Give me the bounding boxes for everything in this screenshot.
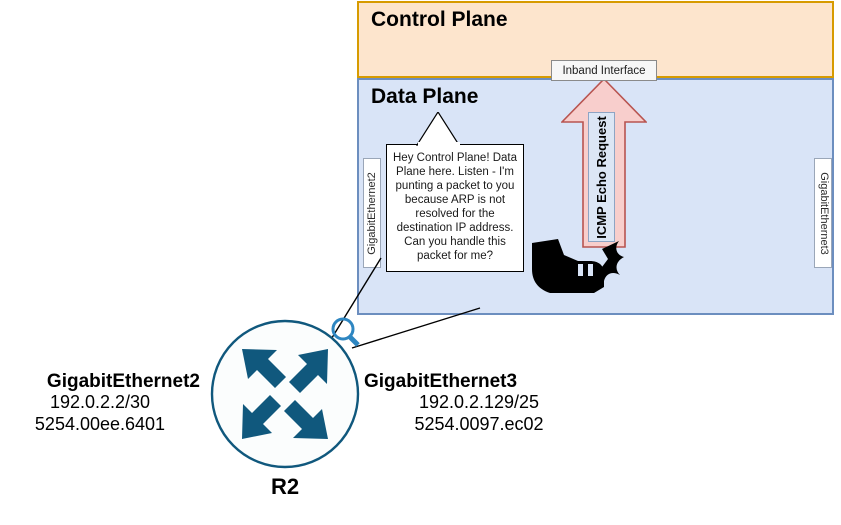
diagram-canvas: Control Plane Data Plane GigabitEthernet… bbox=[0, 0, 841, 525]
interface-label-gigabitethernet3: GigabitEthernet3 192.0.2.129/25 5254.009… bbox=[364, 371, 594, 435]
magnifying-glass-icon bbox=[329, 316, 365, 352]
router-name-label: R2 bbox=[210, 474, 360, 500]
icmp-echo-request-label: ICMP Echo Request bbox=[595, 116, 608, 239]
magnifier-lens bbox=[333, 319, 353, 339]
speech-tail-mask bbox=[418, 142, 460, 146]
interface-tab-gigabitethernet3: GigabitEthernet3 bbox=[814, 158, 832, 268]
ge2-address: 192.0.2.2/30 bbox=[0, 392, 200, 413]
speech-bubble: Hey Control Plane! Data Plane here. List… bbox=[386, 144, 524, 272]
speech-tail-shape bbox=[417, 112, 459, 145]
ge2-mac: 5254.00ee.6401 bbox=[0, 414, 200, 435]
impact-mark bbox=[602, 241, 624, 281]
ge3-name: GigabitEthernet3 bbox=[364, 371, 594, 392]
boot-tread-2 bbox=[588, 264, 593, 276]
icmp-echo-request-label-box: ICMP Echo Request bbox=[588, 112, 615, 242]
speech-bubble-tail bbox=[416, 112, 462, 146]
interface-label-gigabitethernet2: GigabitEthernet2 192.0.2.2/30 5254.00ee.… bbox=[0, 371, 200, 435]
interface-tab-gigabitethernet2: GigabitEthernet2 bbox=[363, 158, 381, 268]
ge3-address: 192.0.2.129/25 bbox=[364, 392, 594, 413]
speech-bubble-text: Hey Control Plane! Data Plane here. List… bbox=[387, 145, 523, 263]
magnifier-handle bbox=[350, 337, 358, 345]
interface-tab-ge2-label: GigabitEthernet2 bbox=[367, 172, 378, 255]
boot-shape bbox=[532, 239, 604, 293]
boot-tread-1 bbox=[578, 264, 583, 276]
control-plane-title: Control Plane bbox=[371, 8, 508, 32]
boot-kick-icon bbox=[524, 237, 636, 299]
ge3-mac: 5254.0097.ec02 bbox=[364, 414, 594, 435]
data-plane-title: Data Plane bbox=[371, 85, 478, 109]
inband-interface-box: Inband Interface bbox=[551, 60, 657, 81]
interface-tab-ge3-label: GigabitEthernet3 bbox=[818, 172, 829, 255]
ge2-name: GigabitEthernet2 bbox=[0, 371, 200, 392]
